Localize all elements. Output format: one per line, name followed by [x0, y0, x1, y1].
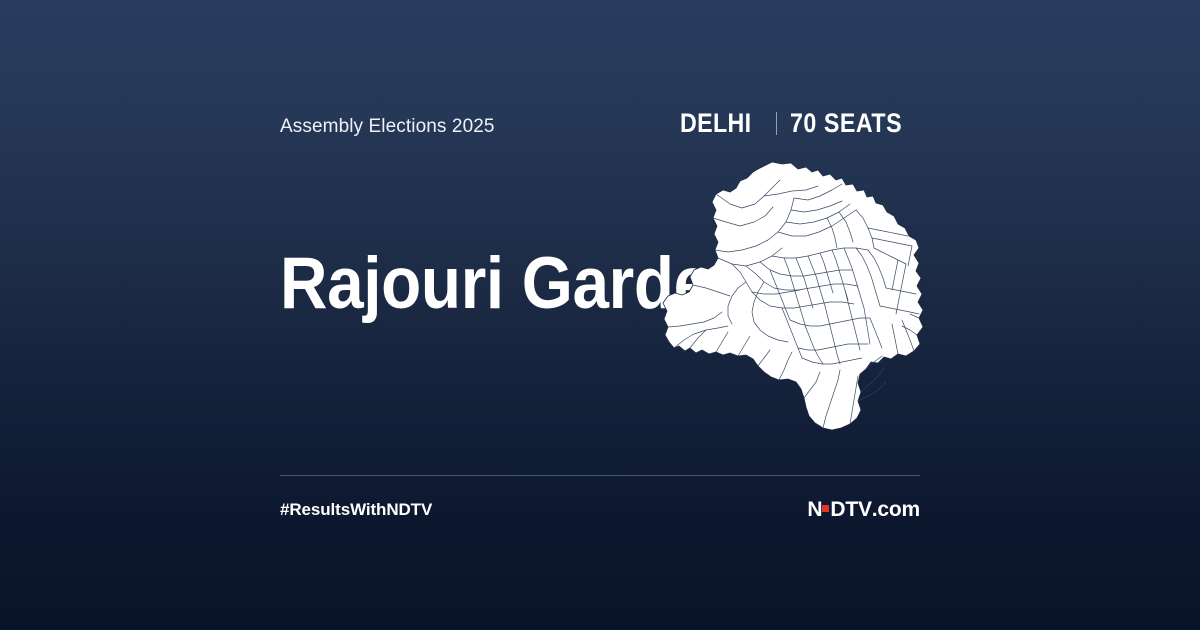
constituency-title: Rajouri Garden	[280, 247, 667, 321]
eyebrow-label: Assembly Elections 2025	[280, 117, 495, 136]
footer-divider	[280, 475, 920, 476]
footer-row: #ResultsWithNDTV N DTV .com	[280, 497, 920, 521]
ndtv-logo: N DTV .com	[807, 499, 920, 520]
header-row: Assembly Elections 2025 DELHI 70 SEATS	[280, 110, 920, 144]
state-seats-group: DELHI 70 SEATS	[680, 110, 920, 137]
logo-domain-suffix: .com	[872, 499, 920, 520]
state-label: DELHI	[680, 110, 751, 137]
logo-letters-dtv: DTV	[830, 499, 871, 520]
logo-red-dot-icon	[822, 505, 829, 512]
seat-count-label: 70 SEATS	[790, 110, 902, 137]
hashtag-label: #ResultsWithNDTV	[280, 501, 432, 518]
separator-divider-icon	[776, 112, 777, 135]
logo-letter-n: N	[807, 499, 822, 520]
election-result-card: Assembly Elections 2025 DELHI 70 SEATS R…	[0, 0, 1200, 630]
delhi-constituency-map	[660, 160, 940, 445]
